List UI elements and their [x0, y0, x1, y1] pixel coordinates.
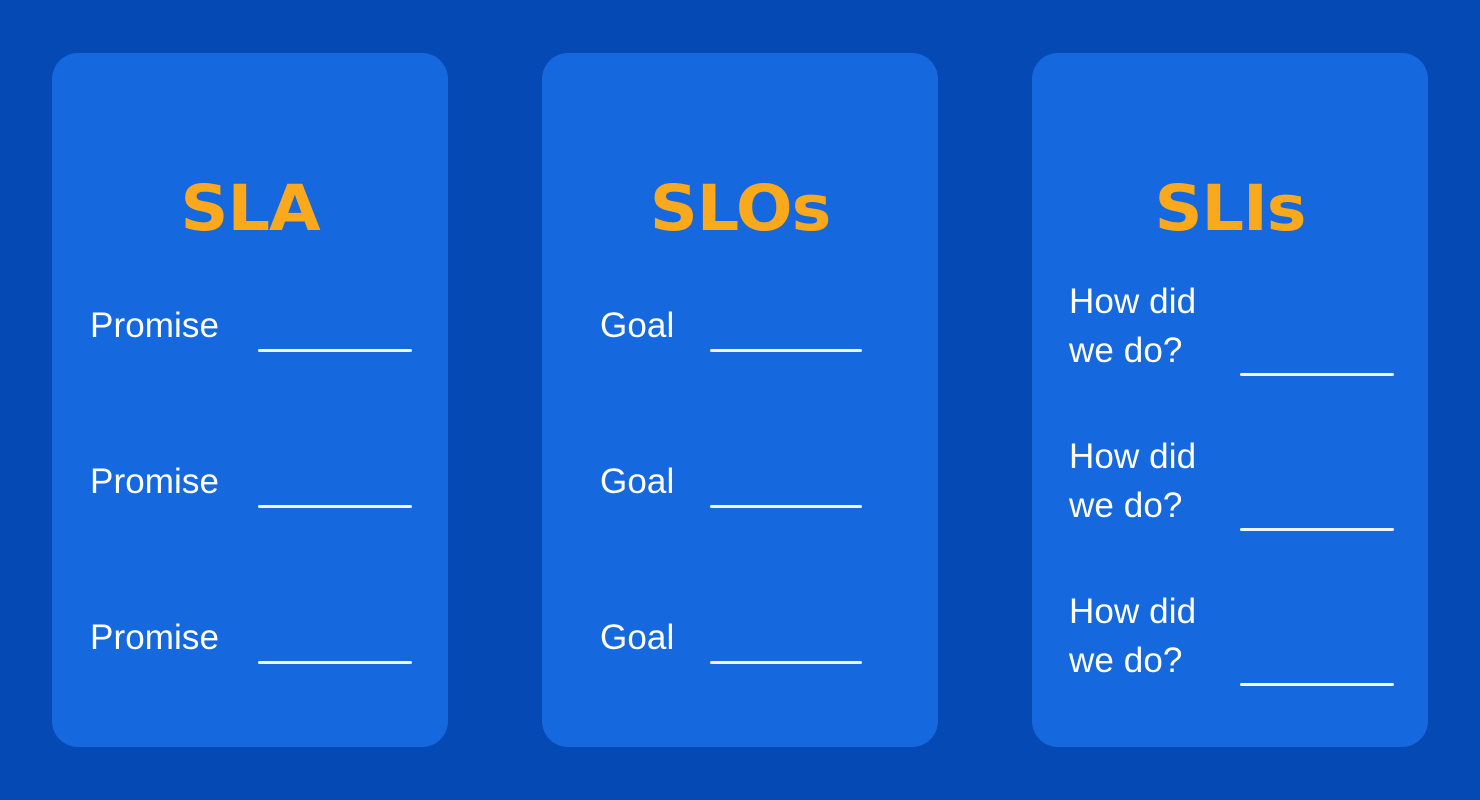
- row-blank-line[interactable]: [1240, 683, 1394, 686]
- row-label: Promise: [90, 457, 219, 506]
- slide-canvas: SLA Promise Promise Promise SLOs Goal: [0, 0, 1480, 800]
- card-title-sla: SLA: [40, 171, 460, 247]
- row-blank-line[interactable]: [258, 349, 412, 352]
- row-blank-line[interactable]: [258, 661, 412, 664]
- card-title-slos: SLOs: [530, 171, 950, 247]
- card-slis-rows: How did we do? How did we do? How did we…: [1032, 277, 1428, 742]
- row-promise-2: Promise: [52, 457, 448, 613]
- row-label: How did we do?: [1069, 587, 1196, 685]
- row-blank-line[interactable]: [1240, 528, 1394, 531]
- row-label: Goal: [600, 457, 674, 506]
- row-goal-1: Goal: [542, 301, 938, 457]
- row-label: Goal: [600, 613, 674, 662]
- row-goal-3: Goal: [542, 613, 938, 769]
- row-blank-line[interactable]: [258, 505, 412, 508]
- row-label: Promise: [90, 613, 219, 662]
- row-label: Promise: [90, 301, 219, 350]
- card-title-slis: SLIs: [1020, 171, 1440, 247]
- row-promise-1: Promise: [52, 301, 448, 457]
- row-label: How did we do?: [1069, 432, 1196, 530]
- row-blank-line[interactable]: [710, 349, 862, 352]
- row-how-did-we-do-2: How did we do?: [1032, 432, 1428, 587]
- card-slos: SLOs Goal Goal Goal: [542, 53, 938, 747]
- card-slis: SLIs How did we do? How did we do? How d…: [1032, 53, 1428, 747]
- card-slos-rows: Goal Goal Goal: [542, 301, 938, 769]
- card-sla-rows: Promise Promise Promise: [52, 301, 448, 769]
- row-promise-3: Promise: [52, 613, 448, 769]
- row-how-did-we-do-3: How did we do?: [1032, 587, 1428, 742]
- row-label: Goal: [600, 301, 674, 350]
- row-label: How did we do?: [1069, 277, 1196, 375]
- row-how-did-we-do-1: How did we do?: [1032, 277, 1428, 432]
- row-blank-line[interactable]: [1240, 373, 1394, 376]
- row-blank-line[interactable]: [710, 661, 862, 664]
- row-goal-2: Goal: [542, 457, 938, 613]
- row-blank-line[interactable]: [710, 505, 862, 508]
- card-sla: SLA Promise Promise Promise: [52, 53, 448, 747]
